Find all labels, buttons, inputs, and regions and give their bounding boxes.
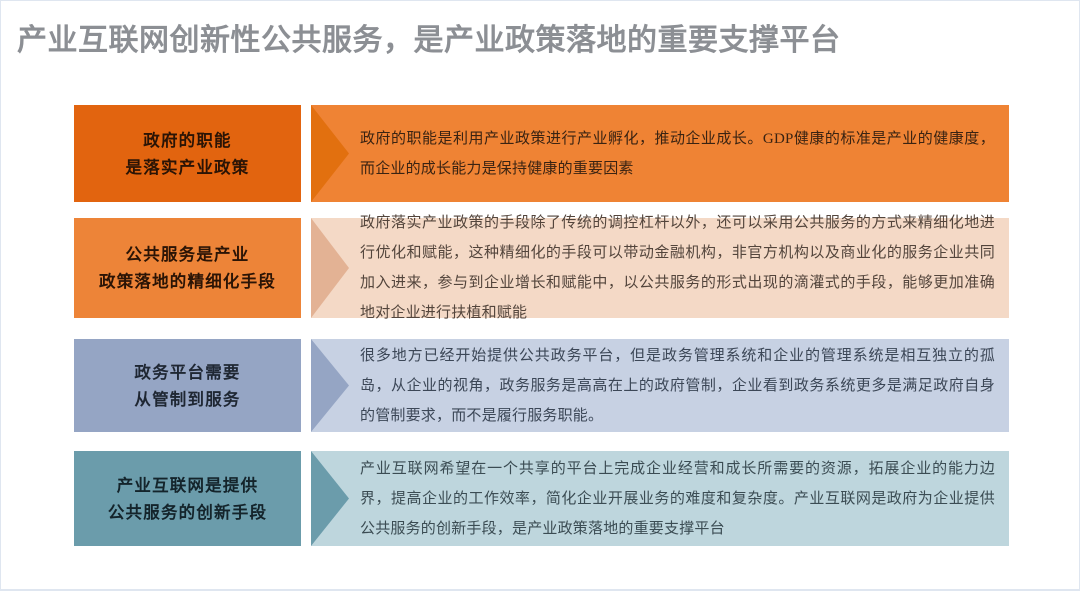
process-row: 公共服务是产业 政策落地的精细化手段政府落实产业政策的手段除了传统的调控杠杆以外… bbox=[74, 218, 1009, 318]
row-left-label: 公共服务是产业 政策落地的精细化手段 bbox=[99, 241, 276, 295]
process-rows-container: 政府的职能 是落实产业政策政府的职能是利用产业政策进行产业孵化，推动企业成长。G… bbox=[1, 1, 1080, 592]
row-left-box[interactable]: 政府的职能 是落实产业政策 bbox=[74, 105, 301, 202]
row-right-panel: 政府的职能是利用产业政策进行产业孵化，推动企业成长。GDP健康的标准是产业的健康… bbox=[311, 105, 1009, 202]
row-body-text: 很多地方已经开始提供公共政务平台，但是政务管理系统和企业的管理系统是相互独立的孤… bbox=[360, 341, 995, 431]
row-body-text: 产业互联网希望在一个共享的平台上完成企业经营和成长所需要的资源，拓展企业的能力边… bbox=[360, 454, 995, 544]
arrow-right-icon bbox=[311, 451, 349, 546]
row-body: 政府的职能是利用产业政策进行产业孵化，推动企业成长。GDP健康的标准是产业的健康… bbox=[349, 105, 1009, 202]
row-body: 很多地方已经开始提供公共政务平台，但是政务管理系统和企业的管理系统是相互独立的孤… bbox=[349, 339, 1009, 432]
process-row: 政务平台需要 从管制到服务很多地方已经开始提供公共政务平台，但是政务管理系统和企… bbox=[74, 339, 1009, 432]
slide-canvas: 产业互联网创新性公共服务，是产业政策落地的重要支撑平台 政府的职能 是落实产业政… bbox=[0, 0, 1080, 591]
process-row: 产业互联网是提供 公共服务的创新手段产业互联网希望在一个共享的平台上完成企业经营… bbox=[74, 451, 1009, 546]
row-body: 产业互联网希望在一个共享的平台上完成企业经营和成长所需要的资源，拓展企业的能力边… bbox=[349, 451, 1009, 546]
row-right-panel: 产业互联网希望在一个共享的平台上完成企业经营和成长所需要的资源，拓展企业的能力边… bbox=[311, 451, 1009, 546]
arrow-right-icon bbox=[311, 105, 349, 202]
row-right-panel: 很多地方已经开始提供公共政务平台，但是政务管理系统和企业的管理系统是相互独立的孤… bbox=[311, 339, 1009, 432]
row-left-label: 政府的职能 是落实产业政策 bbox=[126, 127, 250, 181]
row-body: 政府落实产业政策的手段除了传统的调控杠杆以外，还可以采用公共服务的方式来精细化地… bbox=[349, 218, 1009, 318]
row-left-box[interactable]: 产业互联网是提供 公共服务的创新手段 bbox=[74, 451, 301, 546]
row-body-text: 政府落实产业政策的手段除了传统的调控杠杆以外，还可以采用公共服务的方式来精细化地… bbox=[360, 208, 995, 328]
row-left-label: 产业互联网是提供 公共服务的创新手段 bbox=[108, 472, 267, 526]
row-body-text: 政府的职能是利用产业政策进行产业孵化，推动企业成长。GDP健康的标准是产业的健康… bbox=[360, 124, 995, 184]
arrow-right-icon bbox=[311, 218, 349, 318]
row-left-box[interactable]: 公共服务是产业 政策落地的精细化手段 bbox=[74, 218, 301, 318]
row-right-panel: 政府落实产业政策的手段除了传统的调控杠杆以外，还可以采用公共服务的方式来精细化地… bbox=[311, 218, 1009, 318]
process-row: 政府的职能 是落实产业政策政府的职能是利用产业政策进行产业孵化，推动企业成长。G… bbox=[74, 105, 1009, 202]
row-left-box[interactable]: 政务平台需要 从管制到服务 bbox=[74, 339, 301, 432]
arrow-right-icon bbox=[311, 339, 349, 432]
row-left-label: 政务平台需要 从管制到服务 bbox=[134, 359, 240, 413]
